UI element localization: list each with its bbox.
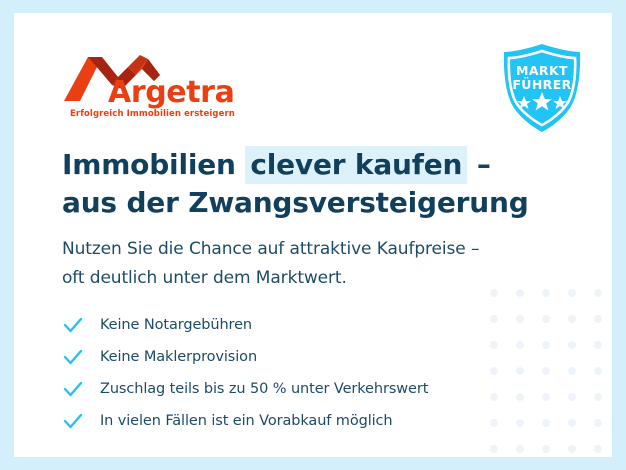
list-item: Keine Notargebühren (62, 309, 582, 341)
list-item: In vielen Fällen ist ein Vorabkauf mögli… (62, 405, 582, 437)
banner-card: Argetra Erfolgreich Immobilien ersteiger… (14, 13, 612, 457)
headline-line-2: aus der Zwangsversteigerung (62, 184, 582, 222)
dot (594, 315, 602, 323)
list-item-label: In vielen Fällen ist ein Vorabkauf mögli… (100, 413, 393, 429)
check-icon (62, 410, 84, 432)
promo-banner: Argetra Erfolgreich Immobilien ersteiger… (0, 0, 626, 470)
dot (568, 445, 576, 453)
dot (594, 289, 602, 297)
dot (594, 341, 602, 349)
headline-highlight: clever kaufen (245, 146, 467, 184)
headline-line-1: Immobilien clever kaufen – (62, 146, 582, 184)
check-icon (62, 314, 84, 336)
benefit-list: Keine NotargebührenKeine Maklerprovision… (62, 309, 582, 437)
subheading: Nutzen Sie die Chance auf attraktive Kau… (62, 235, 582, 293)
dot-row (490, 445, 612, 453)
dot (516, 445, 524, 453)
list-item-label: Keine Notargebühren (100, 317, 252, 333)
logo-wordmark: Argetra (108, 75, 234, 110)
dot (594, 419, 602, 427)
check-icon (62, 378, 84, 400)
markt-fuehrer-badge: MARKT FÜHRER (492, 38, 592, 138)
subheading-line-2: oft deutlich unter dem Marktwert. (62, 264, 582, 293)
list-item: Zuschlag teils bis zu 50 % unter Verkehr… (62, 373, 582, 405)
list-item-label: Keine Maklerprovision (100, 349, 257, 365)
dot (542, 445, 550, 453)
check-icon (62, 346, 84, 368)
subheading-line-1: Nutzen Sie die Chance auf attraktive Kau… (62, 235, 582, 264)
argetra-logo[interactable]: Argetra Erfolgreich Immobilien ersteiger… (62, 55, 242, 121)
dot (594, 393, 602, 401)
dot (594, 367, 602, 375)
page-title: Immobilien clever kaufen – aus der Zwang… (62, 146, 582, 222)
list-item-label: Zuschlag teils bis zu 50 % unter Verkehr… (100, 381, 428, 397)
dot (594, 445, 602, 453)
headline-suffix: – (467, 148, 490, 181)
logo-tagline: Erfolgreich Immobilien ersteigern (70, 109, 235, 119)
shield-icon (492, 38, 592, 138)
headline-prefix: Immobilien (62, 148, 245, 181)
dot (490, 445, 498, 453)
list-item: Keine Maklerprovision (62, 341, 582, 373)
